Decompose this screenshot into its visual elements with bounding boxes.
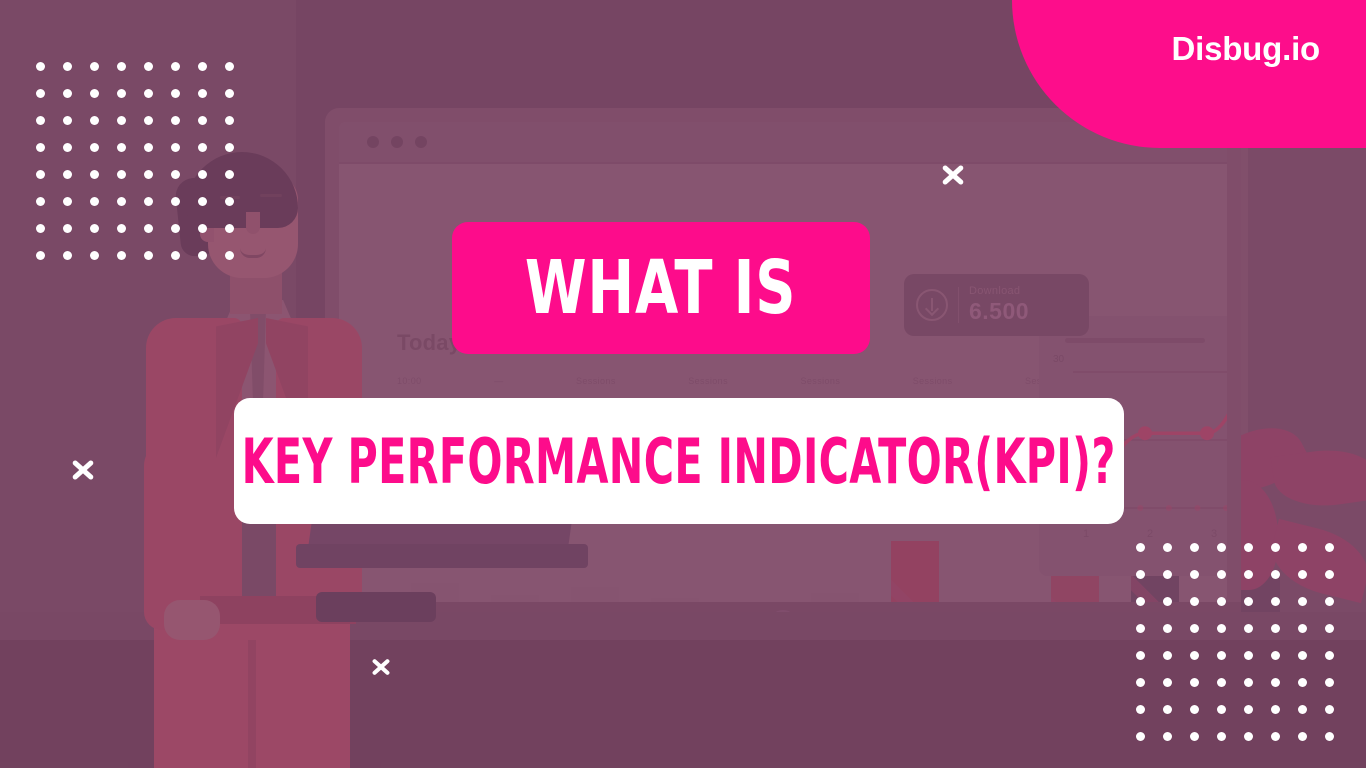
dot-icon [1271,732,1280,741]
person-hand [164,600,220,640]
sparkle-x-icon [938,160,968,190]
dot-icon [117,197,126,206]
kpi-value: 6.500 [969,298,1029,325]
dot-icon [1298,624,1307,633]
dot-icon [144,116,153,125]
micro-axis-label: Sessions [913,376,953,386]
dot-icon [1298,678,1307,687]
dot-icon [1136,543,1145,552]
dot-icon [1136,570,1145,579]
dot-icon [63,62,72,71]
dot-icon [90,143,99,152]
dot-icon [144,143,153,152]
line-chart-x-tick-label: 1 [1083,528,1089,540]
dot-icon [1190,678,1199,687]
dot-icon [1190,651,1199,660]
title-kicker-badge: WHAT IS [452,222,870,354]
dot-icon [36,224,45,233]
dot-icon [1298,705,1307,714]
line-chart-x-ticks: 1234567 [1083,528,1227,540]
dot-icon [90,62,99,71]
dot-icon [1271,570,1280,579]
dot-icon [225,197,234,206]
dot-icon [90,251,99,260]
dot-icon [1163,732,1172,741]
dot-icon [63,251,72,260]
person-nose [246,212,260,234]
dot-icon [1298,732,1307,741]
bar [491,595,539,602]
dot-icon [198,170,207,179]
dot-icon [1325,651,1334,660]
dot-icon [171,89,180,98]
bar [811,593,859,602]
dot-icon [225,170,234,179]
line-chart-y-tick-label: 30 [1053,354,1064,365]
sparkle-x-icon [369,655,394,680]
dot-icon [1244,543,1253,552]
dot-icon [1163,624,1172,633]
dot-icon [1217,543,1226,552]
dot-icon [90,116,99,125]
dot-icon [1325,597,1334,606]
laptop-keyboard [316,592,436,622]
dot-icon [144,197,153,206]
dot-icon [144,62,153,71]
dot-icon [1271,705,1280,714]
dot-icon [1136,705,1145,714]
dot-icon [171,116,180,125]
dot-icon [90,224,99,233]
dot-icon [36,170,45,179]
dot-icon [1325,705,1334,714]
title-main-text: KEY PERFORMANCE INDICATOR(KPI)? [242,425,1116,498]
dot-icon [1325,543,1334,552]
micro-axis-label: Sessions [688,376,728,386]
dot-icon [63,170,72,179]
dot-icon [117,62,126,71]
dot-icon [225,251,234,260]
person-eye-right [270,204,275,212]
dot-icon [1298,570,1307,579]
dot-icon [1244,651,1253,660]
dot-icon [144,89,153,98]
micro-axis-label: Sessions [801,376,841,386]
bar [1051,572,1099,602]
thumbnail-canvas: Today 10:00 — Sessions Sessions Sessions… [0,0,1366,768]
dot-icon [36,143,45,152]
dot-icon [63,116,72,125]
dot-icon [1217,732,1226,741]
dot-icon [171,62,180,71]
dot-icon [144,251,153,260]
dot-icon [1217,651,1226,660]
dot-icon [171,170,180,179]
kpi-label: Download [969,285,1029,297]
dot-icon [1271,624,1280,633]
line-chart-baseline-dot [1194,505,1200,511]
dot-icon [144,170,153,179]
dot-icon [1136,678,1145,687]
dot-icon [117,143,126,152]
sparkle-x-icon [68,455,98,485]
dot-icon [171,251,180,260]
dot-icon [1136,732,1145,741]
dot-icon [36,62,45,71]
dot-icon [1163,651,1172,660]
dot-icon [117,170,126,179]
dot-icon [1244,705,1253,714]
dot-icon [1217,597,1226,606]
dot-icon [1190,624,1199,633]
dot-icon [63,197,72,206]
brand-logo-text[interactable]: Disbug.io [1171,30,1320,68]
dot-icon [1190,543,1199,552]
dot-icon [117,224,126,233]
dot-icon [1163,678,1172,687]
dot-icon [1190,570,1199,579]
title-kicker-text: WHAT IS [525,245,797,331]
dot-icon [198,89,207,98]
dot-icon [1271,543,1280,552]
bar [571,587,619,602]
title-main-banner: KEY PERFORMANCE INDICATOR(KPI)? [234,398,1124,524]
dot-icon [1298,597,1307,606]
dot-icon [1325,732,1334,741]
dot-icon [1217,624,1226,633]
dot-icon [198,251,207,260]
person-eyebrow-right [260,194,282,197]
micro-axis-label: Sessions [576,376,616,386]
dot-icon [1298,543,1307,552]
dot-icon [1190,732,1199,741]
dot-icon [1325,570,1334,579]
dot-icon [63,143,72,152]
kpi-text-block: Download 6.500 [969,285,1029,325]
line-chart-baseline-dot [1137,505,1143,511]
dot-icon [36,116,45,125]
dot-icon [1244,597,1253,606]
dot-icon [1271,678,1280,687]
dot-grid-top-left [36,62,234,260]
dot-icon [117,116,126,125]
dot-icon [1136,651,1145,660]
download-kpi-card: Download 6.500 [904,274,1089,336]
dot-icon [1244,678,1253,687]
dot-icon [144,224,153,233]
dot-icon [117,251,126,260]
dot-icon [225,143,234,152]
person-trouser-seam [248,640,256,768]
dot-icon [63,89,72,98]
dot-icon [198,62,207,71]
line-chart-x-tick-label: 3 [1211,528,1217,540]
dot-grid-bottom-right [1136,543,1334,741]
dot-icon [1163,705,1172,714]
dot-icon [1244,570,1253,579]
dot-icon [1136,597,1145,606]
dot-icon [90,197,99,206]
line-chart-baseline-dot [1223,505,1227,511]
dot-icon [198,143,207,152]
dot-icon [1244,732,1253,741]
dot-icon [1325,678,1334,687]
dot-icon [1217,705,1226,714]
dot-icon [1163,597,1172,606]
dot-icon [63,224,72,233]
dot-icon [225,62,234,71]
dot-icon [1190,705,1199,714]
dot-icon [198,116,207,125]
kpi-divider [958,287,959,323]
laptop-base [296,544,588,568]
dot-icon [36,251,45,260]
dot-icon [1298,651,1307,660]
panel-title-placeholder [1065,338,1205,343]
dot-icon [1163,543,1172,552]
dot-icon [198,224,207,233]
line-chart-baseline-dot [1166,505,1172,511]
bar [891,541,939,602]
dot-icon [90,89,99,98]
dot-icon [1271,597,1280,606]
dot-icon [117,89,126,98]
dot-icon [36,197,45,206]
dot-icon [171,143,180,152]
dot-icon [90,170,99,179]
line-chart-marker [1138,426,1152,440]
dot-icon [171,224,180,233]
dot-icon [225,224,234,233]
dot-icon [1244,624,1253,633]
dot-icon [198,197,207,206]
dot-icon [225,89,234,98]
dot-icon [1325,624,1334,633]
dot-icon [171,197,180,206]
micro-axis-label: — [494,376,503,386]
line-chart-marker [1200,426,1214,440]
dot-icon [1217,678,1226,687]
dot-icon [36,89,45,98]
dot-icon [1163,570,1172,579]
dot-icon [1190,597,1199,606]
dot-icon [1271,651,1280,660]
line-chart-x-tick-label: 2 [1147,528,1153,540]
download-icon [916,289,948,321]
dot-icon [1136,624,1145,633]
dot-icon [1217,570,1226,579]
dot-icon [225,116,234,125]
